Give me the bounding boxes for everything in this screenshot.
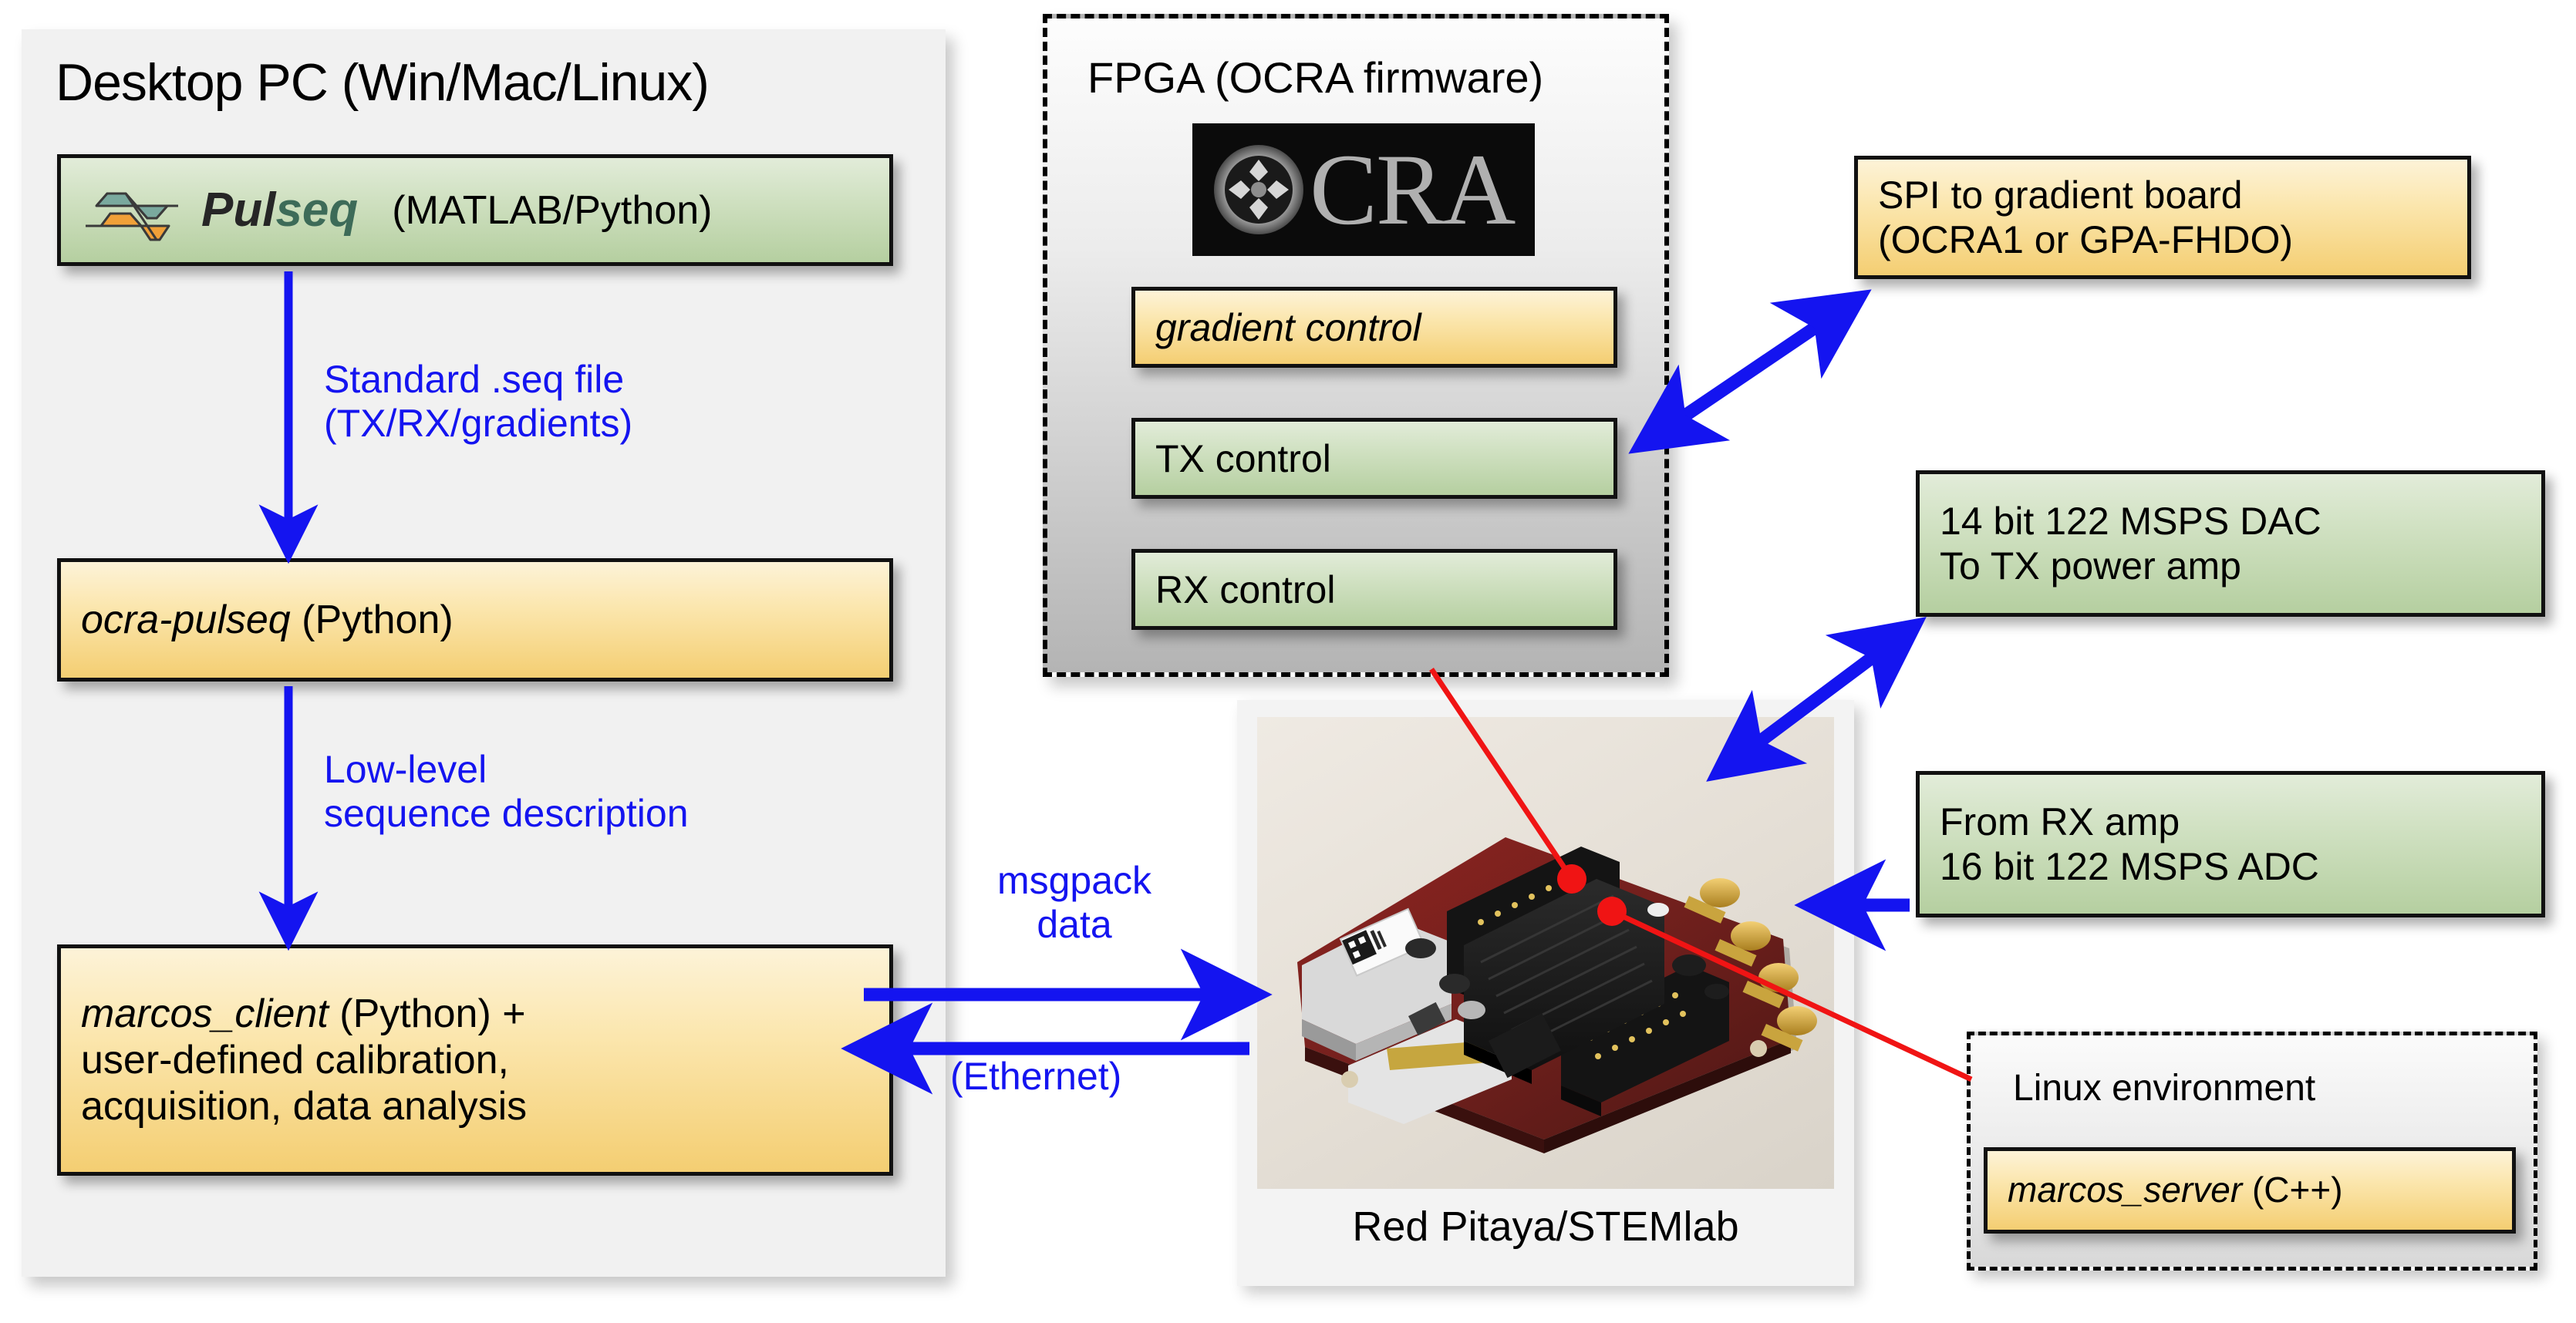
ocra-logo-image: CRA (1192, 123, 1535, 256)
dac-line1: 14 bit 122 MSPS DAC (1940, 499, 2321, 544)
pulseq-language-label: (MATLAB/Python) (392, 187, 712, 234)
gradient-control-label: gradient control (1135, 305, 1441, 350)
linux-environment-title: Linux environment (2013, 1067, 2315, 1109)
pulseq-logo-word: Pulseq (201, 183, 358, 237)
ocra-logo-text: CRA (1310, 139, 1514, 241)
marcos-server-suffix: (C++) (2252, 1170, 2343, 1210)
marcos-client-line3: acquisition, data analysis (81, 1083, 527, 1129)
gradient-control-box[interactable]: gradient control (1131, 287, 1617, 368)
seq-file-line2: (TX/RX/gradients) (324, 402, 632, 446)
tx-control-label: TX control (1135, 436, 1351, 481)
spi-line2: (OCRA1 or GPA-FHDO) (1878, 217, 2293, 262)
ocra-pulseq-name: ocra-pulseq (81, 598, 291, 642)
marcos-client-line1: marcos_client (Python) + (81, 991, 527, 1037)
red-pitaya-board-illustration (1257, 717, 1834, 1189)
seq-file-line1: Standard .seq file (324, 358, 632, 402)
marcos-client-name: marcos_client (81, 991, 329, 1036)
adc-label: From RX amp 16 bit 122 MSPS ADC (1920, 800, 2339, 889)
tx-control-box[interactable]: TX control (1131, 418, 1617, 499)
marcos-server-box[interactable]: marcos_server (C++) (1984, 1147, 2516, 1234)
pulseq-waveform-icon (83, 172, 198, 249)
fpga-title: FPGA (OCRA firmware) (1087, 52, 1543, 103)
marcos-client-label: marcos_client (Python) + user-defined ca… (61, 991, 547, 1130)
ocra-pulseq-suffix: (Python) (302, 598, 453, 642)
ocra-pulseq-box[interactable]: ocra-pulseq (Python) (57, 558, 893, 682)
dac-line2: To TX power amp (1940, 544, 2321, 588)
dac-box[interactable]: 14 bit 122 MSPS DAC To TX power amp (1916, 470, 2545, 617)
pulseq-box[interactable]: Pulseq (MATLAB/Python) (57, 154, 893, 266)
low-level-annotation: Low-level sequence description (324, 748, 689, 836)
arrow-spi-gradient-board (1647, 302, 1853, 441)
red-pitaya-board-photo (1257, 717, 1834, 1189)
spi-gradient-board-box[interactable]: SPI to gradient board (OCRA1 or GPA-FHDO… (1854, 156, 2471, 279)
pulseq-word-part2: seq (275, 183, 358, 237)
pulseq-word-part1: Pul (201, 183, 275, 237)
marcos-client-line2: user-defined calibration, (81, 1037, 527, 1083)
rx-control-box[interactable]: RX control (1131, 549, 1617, 630)
spi-line1: SPI to gradient board (1878, 173, 2293, 217)
marcos-client-suffix: (Python) + (339, 991, 525, 1036)
msgpack-line1: msgpack (963, 859, 1186, 903)
msgpack-annotation: msgpack data (963, 859, 1186, 947)
desktop-pc-title: Desktop PC (Win/Mac/Linux) (56, 52, 709, 113)
adc-line2: 16 bit 122 MSPS ADC (1940, 844, 2319, 889)
red-pitaya-caption: Red Pitaya/STEMlab (1237, 1203, 1854, 1251)
low-level-line1: Low-level (324, 748, 689, 792)
marcos-server-name: marcos_server (2008, 1170, 2242, 1210)
ocra-pulseq-label: ocra-pulseq (Python) (61, 597, 474, 643)
rx-control-label: RX control (1135, 567, 1355, 612)
marcos-server-label: marcos_server (C++) (1988, 1170, 2363, 1210)
seq-file-annotation: Standard .seq file (TX/RX/gradients) (324, 358, 632, 446)
msgpack-line2: data (963, 903, 1186, 947)
adc-line1: From RX amp (1940, 800, 2319, 844)
spi-gradient-board-label: SPI to gradient board (OCRA1 or GPA-FHDO… (1858, 173, 2313, 262)
ocra-brain-icon (1203, 132, 1314, 247)
marcos-client-box[interactable]: marcos_client (Python) + user-defined ca… (57, 944, 893, 1176)
adc-box[interactable]: From RX amp 16 bit 122 MSPS ADC (1916, 771, 2545, 917)
low-level-line2: sequence description (324, 792, 689, 836)
ethernet-annotation: (Ethernet) (950, 1055, 1121, 1099)
dac-label: 14 bit 122 MSPS DAC To TX power amp (1920, 499, 2342, 588)
